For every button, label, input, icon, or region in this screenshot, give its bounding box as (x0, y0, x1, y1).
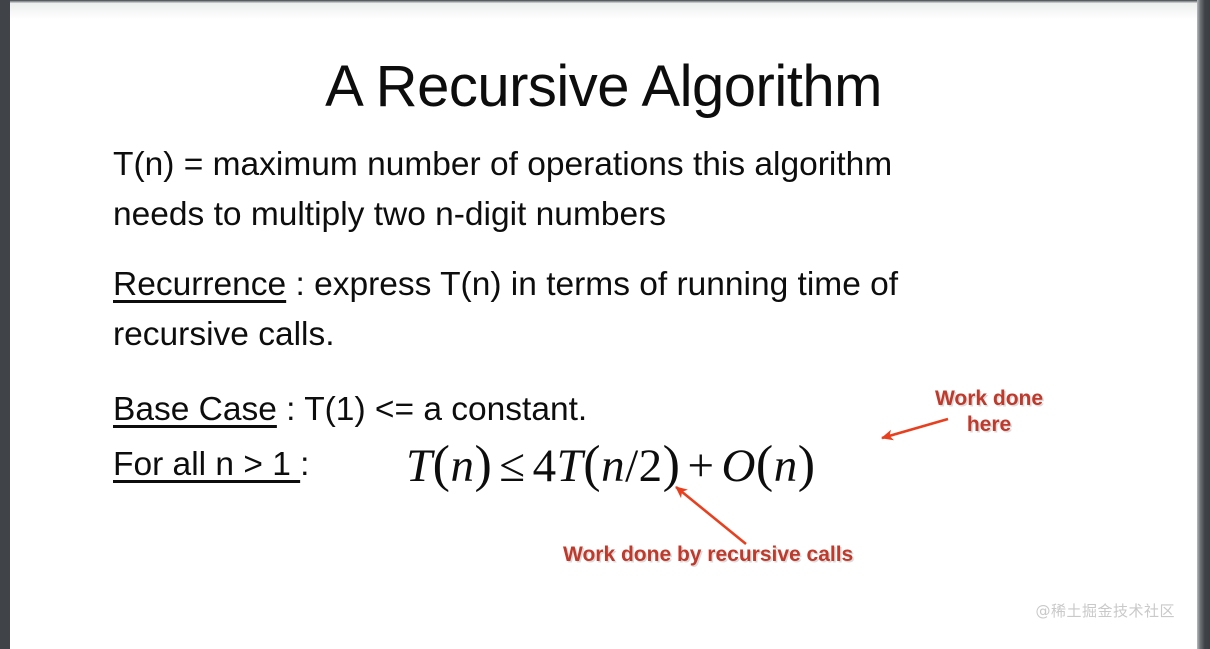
annotation-work-done-here: Work done here (922, 386, 1056, 438)
formula-recursive-arg-denominator: 2 (639, 440, 663, 492)
for-all-label: For all n > 1 (113, 446, 300, 483)
player-right-edge (1197, 0, 1210, 649)
arrow-to-recursive-term (676, 487, 746, 544)
recurrence-paragraph: Recurrence : express T(n) in terms of ru… (113, 260, 1113, 360)
definition-paragraph: T(n) = maximum number of operations this… (113, 140, 1113, 240)
recurrence-text-line-1: : express T(n) in terms of running time … (286, 266, 898, 303)
formula-big-o-arg: n (774, 440, 798, 492)
formula-close-paren-1: ) (474, 436, 492, 493)
formula-open-paren-3: ( (756, 436, 774, 493)
for-all-text: : (300, 446, 309, 483)
formula-lhs-arg: n (450, 440, 474, 492)
player-top-fade (10, 3, 1197, 19)
formula-lhs-function: T (406, 440, 433, 492)
recurrence-label: Recurrence (113, 266, 286, 303)
definition-line-1: T(n) = maximum number of operations this… (113, 146, 892, 183)
annotation-work-done-by-recursive-calls: Work done by recursive calls (563, 542, 853, 568)
formula-recursive-arg-numerator: n (601, 440, 625, 492)
formula-open-paren-1: ( (433, 436, 451, 493)
base-case-label: Base Case (113, 391, 277, 428)
slide-canvas: A Recursive Algorithm T(n) = maximum num… (10, 3, 1197, 649)
definition-line-2: needs to multiply two n-digit numbers (113, 196, 666, 233)
player-left-edge (0, 0, 10, 649)
formula-close-paren-3: ) (798, 436, 816, 493)
slide-viewer: A Recursive Algorithm T(n) = maximum num… (0, 0, 1210, 649)
slide-title: A Recursive Algorithm (10, 53, 1197, 120)
formula-relation: ≤ (492, 440, 532, 492)
formula-close-paren-2: ) (663, 436, 681, 493)
base-case-text: : T(1) <= a constant. (277, 391, 587, 428)
formula-coefficient: 4 (533, 440, 557, 492)
formula-recursive-function: T (557, 440, 584, 492)
formula-plus-operator: + (680, 440, 721, 492)
formula-division-slash: / (625, 440, 639, 492)
recurrence-text-line-2: recursive calls. (113, 316, 335, 353)
watermark: @稀土掘金技术社区 (1035, 600, 1175, 621)
formula-big-o: O (721, 440, 755, 492)
recurrence-formula: T(n)≤4T(n/2)+O(n) (406, 435, 816, 494)
player-top-edge (10, 0, 1197, 3)
formula-open-paren-2: ( (583, 436, 601, 493)
